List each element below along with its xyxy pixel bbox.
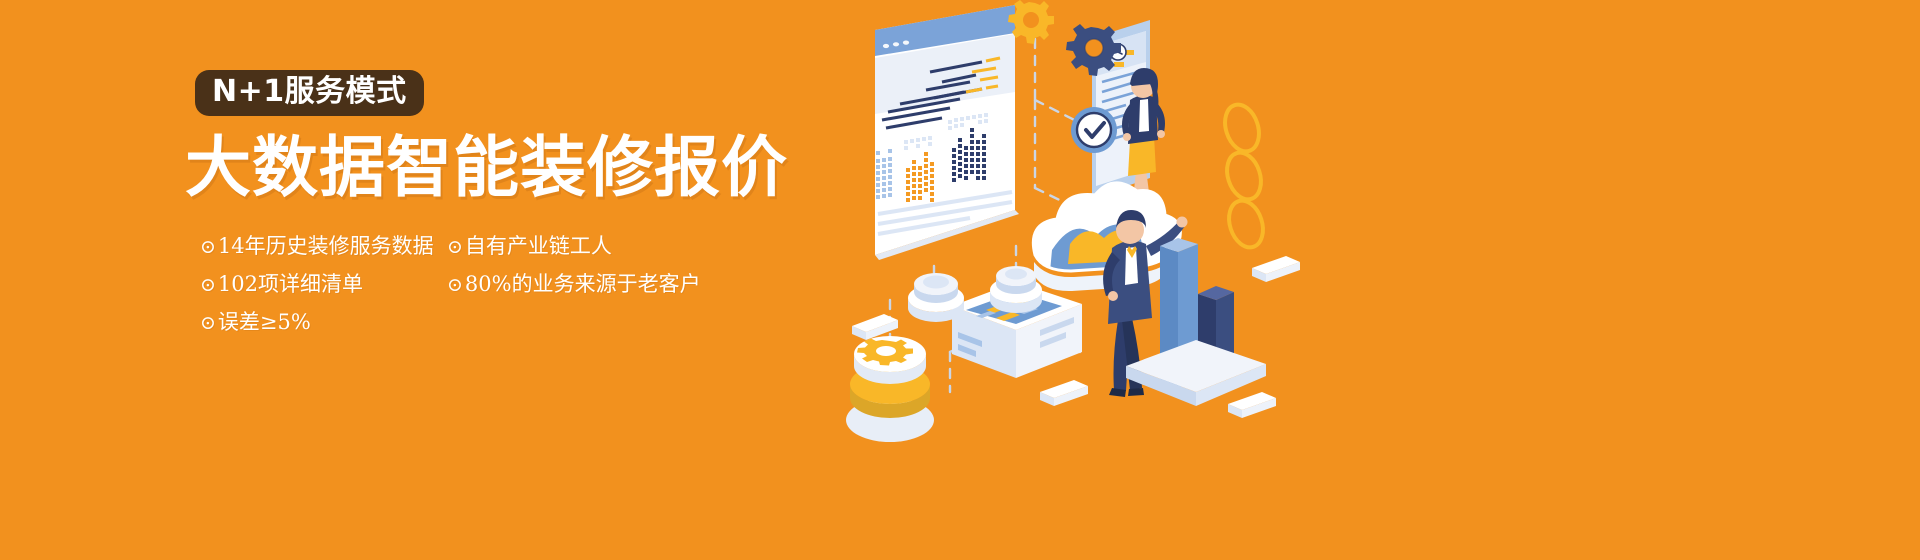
- bullet-circle-dot-icon: ⊙: [447, 236, 463, 258]
- isometric-illustration: [830, 0, 1330, 460]
- list-item: ⊙自有产业链工人: [447, 228, 701, 266]
- page-title: 大数据智能装修报价: [185, 132, 825, 204]
- checkmark-badge: [1071, 107, 1117, 153]
- text-block: N+1服务模式 大数据智能装修报价 ⊙14年历史装修服务数据 ⊙102项详细清单…: [185, 70, 825, 400]
- list-item-label: 误差≥5%: [218, 310, 311, 334]
- service-model-badge: N+1服务模式: [195, 70, 424, 116]
- list-item-label: 14年历史装修服务数据: [218, 234, 434, 258]
- bullet-circle-dot-icon: ⊙: [200, 312, 216, 334]
- list-item: ⊙14年历史装修服务数据: [200, 228, 434, 266]
- list-item-label: 80%的业务来源于老客户: [465, 272, 701, 296]
- list-item: ⊙102项详细清单: [200, 266, 434, 304]
- browser-window-dashboard: [870, 5, 1019, 260]
- list-item: ⊙80%的业务来源于老客户: [447, 266, 701, 304]
- bullet-circle-dot-icon: ⊙: [447, 274, 463, 296]
- bullet-circle-dot-icon: ⊙: [200, 236, 216, 258]
- database-cylinder: [846, 336, 934, 442]
- card-bottom-right: [1228, 392, 1276, 418]
- card-top-right: [1252, 256, 1300, 282]
- feature-list-column-left: ⊙14年历史装修服务数据 ⊙102项详细清单 ⊙误差≥5%: [200, 228, 434, 342]
- promo-banner: N+1服务模式 大数据智能装修报价 ⊙14年历史装修服务数据 ⊙102项详细清单…: [0, 0, 1920, 560]
- feature-list-column-right: ⊙自有产业链工人 ⊙80%的业务来源于老客户: [447, 228, 701, 304]
- abstract-rings: [1219, 100, 1268, 252]
- list-item: ⊙误差≥5%: [200, 304, 434, 342]
- list-item-label: 102项详细清单: [218, 272, 363, 296]
- bullet-circle-dot-icon: ⊙: [200, 274, 216, 296]
- list-item-label: 自有产业链工人: [465, 234, 612, 258]
- card-bottom-center: [1040, 380, 1088, 406]
